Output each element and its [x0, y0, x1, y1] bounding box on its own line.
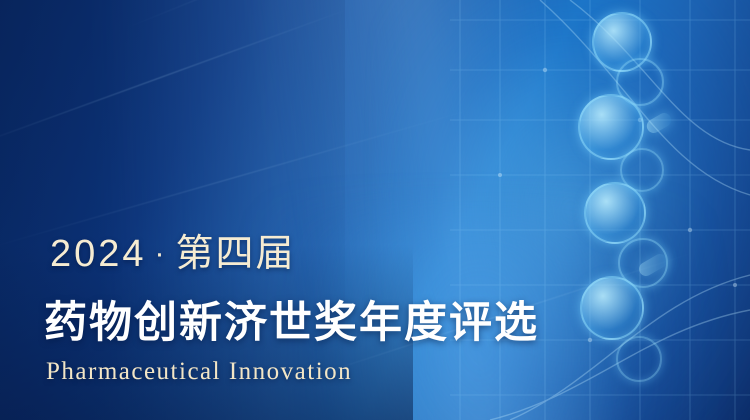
separator-dot: ·: [147, 237, 176, 270]
subtitle-chinese: 药物创新济世奖年度评选: [44, 288, 539, 350]
poster-text-block: 济世奖 2024·第四届 药物创新济世奖年度评选 Pharmaceutical …: [0, 0, 560, 420]
year-text: 2024: [50, 233, 147, 275]
edition-text: 第四届: [176, 233, 296, 275]
subtitle-english: Pharmaceutical Innovation: [46, 358, 352, 386]
poster-canvas: 济世奖 2024·第四届 药物创新济世奖年度评选 Pharmaceutical …: [0, 0, 750, 420]
year-edition-line: 2024·第四届: [50, 222, 296, 277]
page-title: 济世奖: [42, 52, 375, 162]
molecule-chain-graphic: [568, 0, 698, 420]
